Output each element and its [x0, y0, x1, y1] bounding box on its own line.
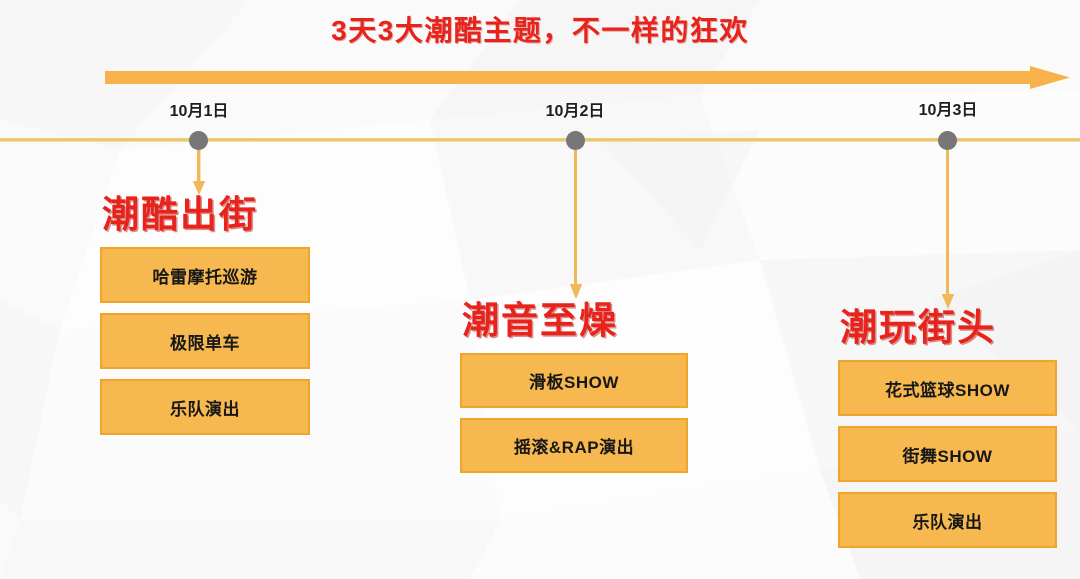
connector-arrow-day3	[941, 148, 955, 315]
theme-column-day1: 潮酷出街 哈雷摩托巡游 极限单车 乐队演出	[100, 194, 315, 435]
theme-column-day3: 潮玩街头 花式篮球SHOW 街舞SHOW 乐队演出	[838, 307, 1060, 548]
timeline-dot-icon	[938, 131, 957, 150]
timeline-dot-icon	[566, 131, 585, 150]
timeline-node-day2[interactable]	[566, 131, 585, 150]
timeline-node-day1[interactable]	[189, 131, 208, 150]
activity-item[interactable]: 乐队演出	[838, 492, 1057, 548]
theme-heading-day3: 潮玩街头	[840, 307, 1060, 348]
activity-item[interactable]: 极限单车	[100, 313, 310, 369]
page-title: 3天3大潮酷主题，不一样的狂欢	[0, 9, 1080, 49]
poster-canvas: 3天3大潮酷主题，不一样的狂欢 10月1日 10月2日 10月3日	[0, 0, 1080, 579]
timeline-dot-icon	[189, 131, 208, 150]
activity-item[interactable]: 哈雷摩托巡游	[100, 247, 310, 303]
activity-item[interactable]: 乐队演出	[100, 379, 310, 435]
activity-item[interactable]: 摇滚&RAP演出	[460, 418, 688, 473]
theme-column-day2: 潮音至燥 滑板SHOW 摇滚&RAP演出	[460, 300, 695, 473]
theme-heading-day2: 潮音至燥	[462, 300, 695, 341]
theme-heading-day1: 潮酷出街	[102, 194, 315, 235]
date-label-day3: 10月3日	[919, 96, 978, 120]
date-label-day1: 10月1日	[170, 97, 229, 121]
connector-arrow-day2	[569, 148, 583, 305]
timeline-node-day3[interactable]	[938, 131, 957, 150]
timeline-axis-arrow	[105, 66, 1070, 90]
activity-item[interactable]: 花式篮球SHOW	[838, 360, 1057, 416]
date-label-day2: 10月2日	[546, 97, 605, 121]
timeline-baseline	[0, 138, 1080, 142]
activity-item[interactable]: 街舞SHOW	[838, 426, 1057, 482]
activity-item[interactable]: 滑板SHOW	[460, 353, 688, 408]
